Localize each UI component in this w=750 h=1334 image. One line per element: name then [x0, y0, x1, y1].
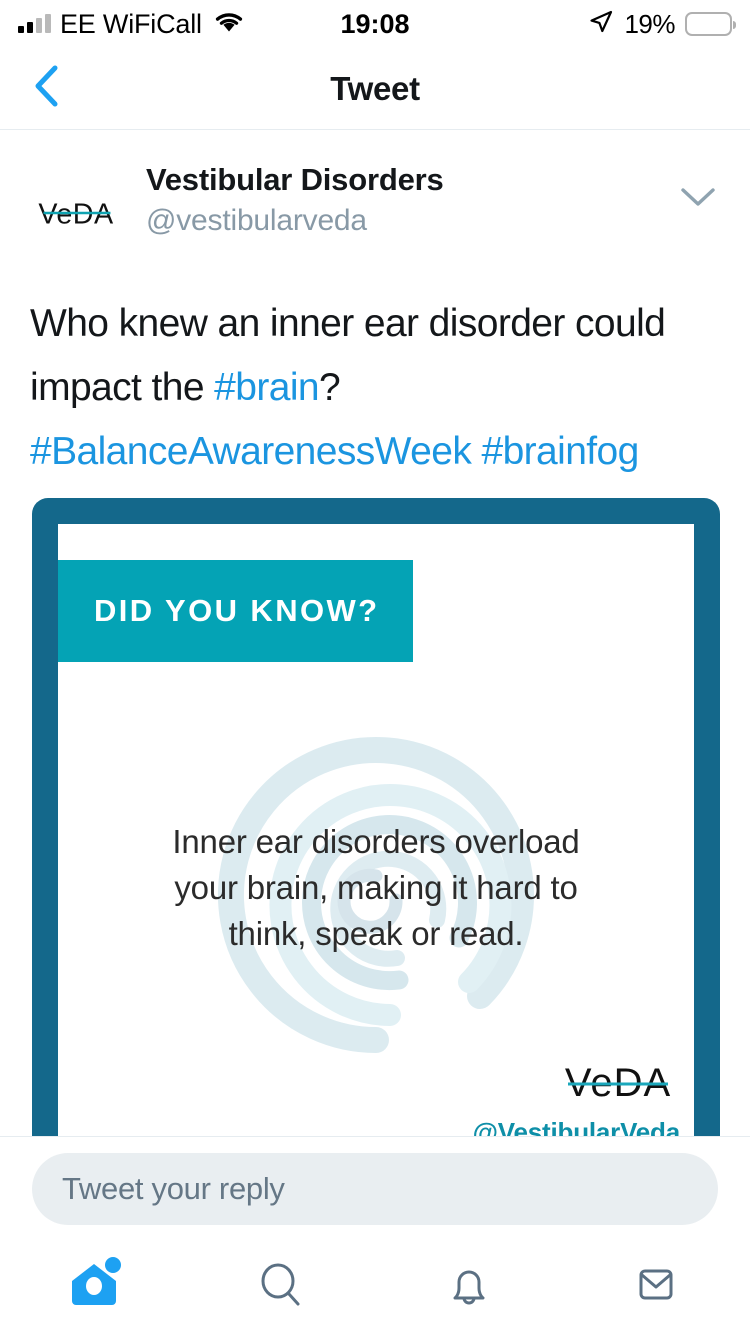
- veda-logo-icon: VeDA: [473, 1058, 680, 1115]
- signal-bars-icon: [18, 15, 51, 33]
- nav-bar: Tweet: [0, 48, 750, 130]
- hashtag-balanceawarenessweek-link[interactable]: #BalanceAwarenessWeek: [30, 430, 471, 473]
- did-you-know-banner: DID YOU KNOW?: [58, 560, 413, 662]
- card-body-line1: Inner ear disorders overload: [58, 819, 694, 865]
- page-title: Tweet: [0, 70, 750, 108]
- author-block: Vestibular Disorders @vestibularveda: [146, 160, 444, 242]
- phone-screen: EE WiFiCall 19:08 19%: [0, 0, 750, 1334]
- tweet-author-row[interactable]: VeDA Vestibular Disorders @vestibularved…: [0, 160, 750, 250]
- tab-bar: [0, 1240, 750, 1334]
- reply-input[interactable]: [32, 1153, 718, 1225]
- card-body-line2: your brain, making it hard to: [58, 865, 694, 911]
- svg-text:VeDA: VeDA: [38, 199, 114, 231]
- card-frame: DID YOU KNOW? Inner ear disorders overlo…: [32, 498, 720, 1136]
- carrier-label: EE WiFiCall: [60, 9, 202, 40]
- location-arrow-icon: [588, 9, 614, 40]
- card-handle-label: @VestibularVeda: [473, 1117, 680, 1136]
- reply-composer: [0, 1136, 750, 1240]
- did-you-know-label: DID YOU KNOW?: [94, 593, 380, 629]
- tab-messages[interactable]: [563, 1240, 750, 1334]
- envelope-icon: [628, 1257, 684, 1318]
- author-handle: @vestibularveda: [146, 200, 444, 242]
- avatar[interactable]: VeDA: [28, 166, 124, 262]
- bell-icon: [441, 1257, 497, 1318]
- hashtag-brain-link[interactable]: #brain: [214, 366, 319, 409]
- tab-search[interactable]: [188, 1240, 376, 1334]
- tweet-image[interactable]: DID YOU KNOW? Inner ear disorders overlo…: [32, 498, 720, 1136]
- card-body-line3: think, speak or read.: [58, 911, 694, 957]
- card-logo-block: VeDA @VestibularVeda: [473, 1058, 680, 1136]
- chevron-down-icon: [679, 185, 717, 214]
- home-icon: [64, 1257, 124, 1318]
- tweet-text: Who knew an inner ear disorder could imp…: [30, 292, 724, 484]
- card-body-text: Inner ear disorders overload your brain,…: [58, 819, 694, 957]
- tweet-text-line2-post: ?: [319, 366, 340, 409]
- status-bar-right: 19%: [375, 9, 732, 40]
- tweet-text-line1: Who knew an inner ear disorder could: [30, 302, 665, 345]
- hashtag-brainfog-link[interactable]: #brainfog: [481, 430, 638, 473]
- tab-home[interactable]: [0, 1240, 188, 1334]
- wifi-icon: [213, 10, 245, 39]
- home-badge-dot: [105, 1257, 121, 1273]
- battery-percent-label: 19%: [624, 9, 675, 40]
- status-bar-left: EE WiFiCall: [18, 9, 375, 40]
- search-icon: [253, 1257, 309, 1318]
- veda-logo-icon: VeDA: [28, 192, 124, 236]
- tweet-more-button[interactable]: [668, 174, 728, 224]
- author-name: Vestibular Disorders: [146, 160, 444, 200]
- battery-low-icon: [685, 12, 732, 36]
- tab-notifications[interactable]: [375, 1240, 563, 1334]
- card-inner: DID YOU KNOW? Inner ear disorders overlo…: [58, 524, 694, 1136]
- status-bar: EE WiFiCall 19:08 19%: [0, 0, 750, 48]
- tweet-text-line2-pre: impact the: [30, 366, 214, 409]
